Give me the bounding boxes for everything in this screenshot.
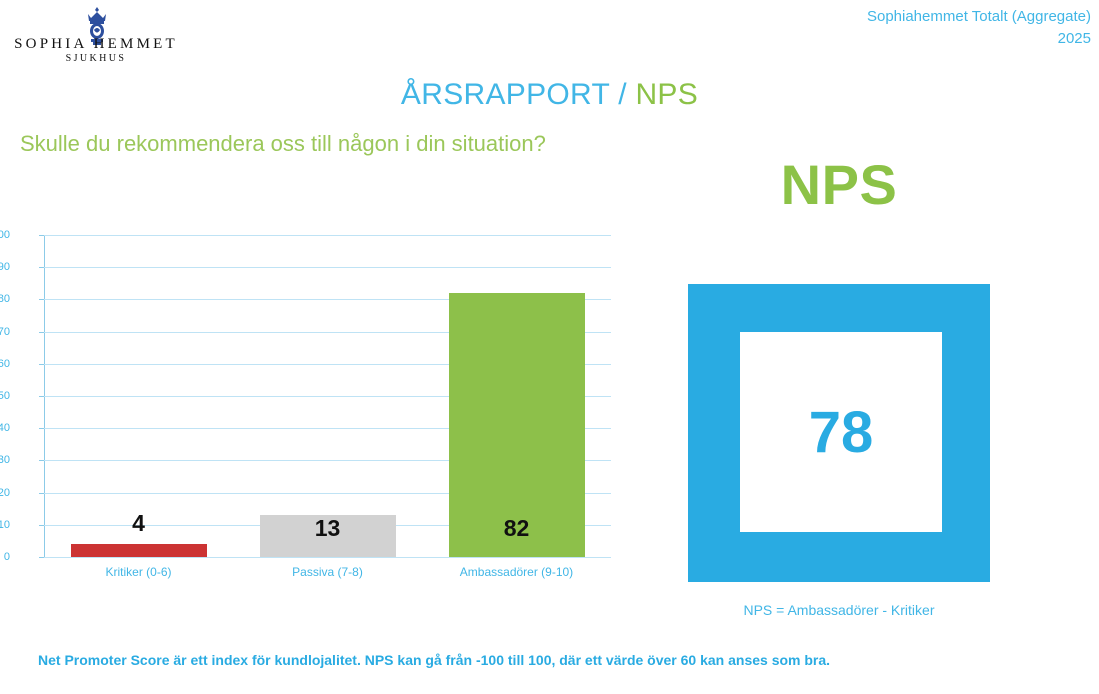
nps-score-inner-box: 78 (740, 332, 942, 532)
survey-question: Skulle du rekommendera oss till någon i … (20, 131, 546, 157)
y-axis-label: 10 (0, 519, 10, 531)
header-unit-name: Sophiahemmet Totalt (Aggregate) (867, 6, 1091, 28)
y-axis-tick (39, 235, 44, 236)
logo-wordmark: SOPHIA HEMMET (6, 36, 186, 53)
chart-bar-value: 13 (260, 515, 396, 542)
y-axis-tick (39, 557, 44, 558)
chart-bar-value: 4 (71, 510, 207, 537)
y-axis-tick (39, 364, 44, 365)
brand-logo: SOPHIA HEMMET SJUKHUS (6, 6, 186, 62)
y-axis-tick (39, 428, 44, 429)
chart-x-label: Passiva (7-8) (233, 565, 422, 579)
y-axis-label: 100 (0, 229, 10, 241)
gridline (44, 267, 611, 268)
logo-subtitle: SJUKHUS (6, 53, 186, 64)
chart-bar-value: 82 (449, 515, 585, 542)
nps-formula-caption: NPS = Ambassadörer - Kritiker (688, 602, 990, 618)
gridline (44, 235, 611, 236)
chart-plot-area: 41382 Kritiker (0-6)Passiva (7-8)Ambassa… (44, 235, 611, 557)
y-axis-label: 80 (0, 293, 10, 305)
page-title-arsrapport: ÅRSRAPPORT (401, 78, 610, 111)
header-year: 2025 (867, 28, 1091, 50)
y-axis-label: 30 (0, 454, 10, 466)
header-meta: Sophiahemmet Totalt (Aggregate) 2025 (867, 6, 1091, 50)
page-title-nps: NPS (635, 78, 698, 111)
y-axis-tick (39, 493, 44, 494)
y-axis-tick (39, 267, 44, 268)
nps-heading: NPS (688, 152, 990, 217)
y-axis-tick (39, 460, 44, 461)
nps-score-card: 78 (688, 284, 990, 582)
page-title-separator: / (618, 78, 627, 111)
y-axis-tick (39, 332, 44, 333)
y-axis-label: 70 (0, 326, 10, 338)
y-axis-label: 90 (0, 261, 10, 273)
nps-bar-chart: 41382 Kritiker (0-6)Passiva (7-8)Ambassa… (14, 228, 614, 588)
chart-x-label: Kritiker (0-6) (44, 565, 233, 579)
y-axis-label: 40 (0, 422, 10, 434)
y-axis-tick (39, 525, 44, 526)
nps-score-value: 78 (740, 332, 942, 532)
page-title: ÅRSRAPPORT / NPS (0, 78, 1099, 112)
chart-bar[interactable] (71, 544, 207, 557)
y-axis-label: 60 (0, 358, 10, 370)
y-axis-label: 0 (0, 551, 10, 563)
footer-note: Net Promoter Score är ett index för kund… (38, 652, 830, 668)
y-axis-label: 20 (0, 487, 10, 499)
gridline (44, 557, 611, 558)
chart-x-label: Ambassadörer (9-10) (422, 565, 611, 579)
y-axis-tick (39, 299, 44, 300)
y-axis-tick (39, 396, 44, 397)
y-axis-label: 50 (0, 390, 10, 402)
